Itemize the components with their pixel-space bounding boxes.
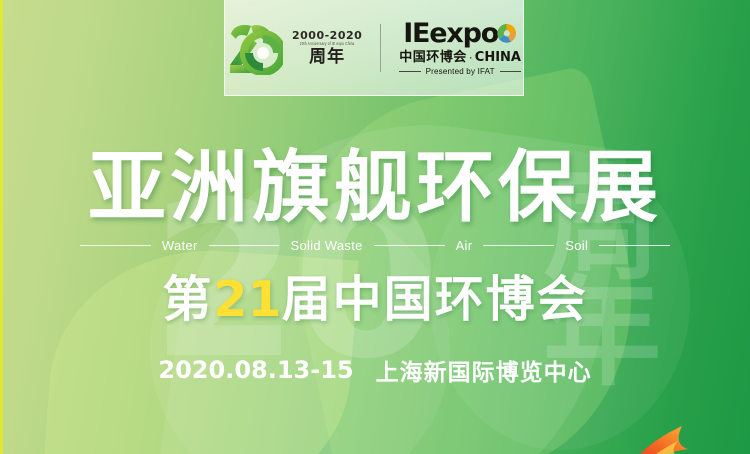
- main-headline: 亚洲旗舰环保展: [88, 148, 662, 226]
- tag-air: Air: [445, 238, 484, 253]
- topic-tagline: Water Solid Waste Air Soil: [80, 238, 670, 253]
- tagline-rule: [374, 245, 445, 246]
- event-venue: 上海新国际博览中心: [376, 353, 592, 387]
- left-edge-strip: [0, 0, 3, 454]
- tag-soil: Soil: [554, 238, 599, 253]
- event-footer: 2020.08.13-15 上海新国际博览中心: [158, 353, 591, 387]
- subhead-suffix: 届中国环博会: [282, 273, 588, 327]
- sub-headline: 第21届中国环博会: [162, 275, 587, 325]
- tag-solid-waste: Solid Waste: [279, 238, 373, 253]
- event-date: 2020.08.13-15: [158, 356, 353, 384]
- tagline-rule: [209, 245, 280, 246]
- tagline-rule: [80, 245, 151, 246]
- tagline-rule: [599, 245, 670, 246]
- subhead-prefix: 第: [162, 273, 213, 327]
- tagline-rule: [483, 245, 554, 246]
- tag-water: Water: [151, 238, 209, 253]
- subhead-edition-number: 21: [213, 271, 281, 328]
- poster-content: 亚洲旗舰环保展 Water Solid Waste Air Soil 第21届中…: [0, 0, 750, 454]
- poster-banner: 20 周年: [0, 0, 750, 454]
